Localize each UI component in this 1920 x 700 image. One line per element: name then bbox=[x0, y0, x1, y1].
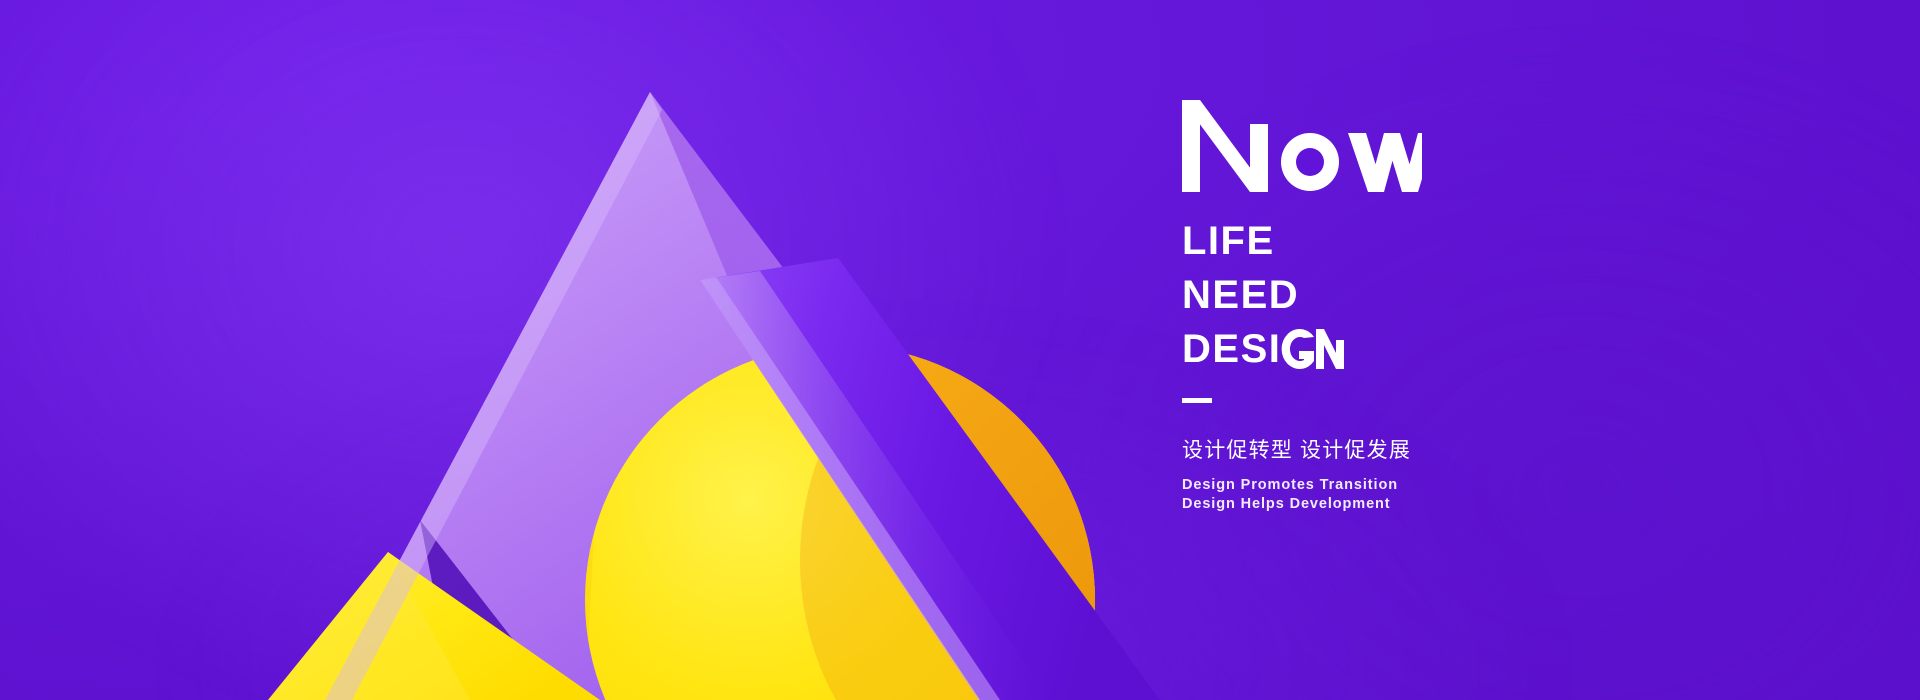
glyph-N-icon bbox=[1182, 100, 1268, 192]
tagline-chinese: 设计促转型 设计促发展 bbox=[1182, 437, 1802, 465]
glyph-N-small-icon bbox=[1315, 329, 1345, 369]
slogan-line-need: NEED bbox=[1182, 268, 1802, 322]
divider-rule bbox=[1182, 398, 1212, 403]
headline-now-glyphs bbox=[1182, 96, 1422, 192]
slogan-line-design: DESI DESIGN bbox=[1182, 322, 1802, 376]
glyph-w-icon bbox=[1348, 133, 1422, 192]
slogan-design-prefix: DESI bbox=[1182, 322, 1281, 376]
headline-now: Now bbox=[1182, 96, 1802, 192]
slogan-stack: LIFE NEED DESI DESIGN bbox=[1182, 214, 1802, 376]
glyph-G-icon bbox=[1281, 329, 1315, 369]
copy-block: Now LIFE NEED DESI DESIGN bbox=[1182, 96, 1802, 514]
glyph-o-icon bbox=[1281, 133, 1339, 191]
tagline-english-line-2: Design Helps Development bbox=[1182, 495, 1802, 514]
slogan-line-life: LIFE bbox=[1182, 214, 1802, 268]
hero-banner: Now LIFE NEED DESI DESIGN bbox=[0, 0, 1920, 700]
tagline-english-line-1: Design Promotes Transition bbox=[1182, 476, 1802, 495]
